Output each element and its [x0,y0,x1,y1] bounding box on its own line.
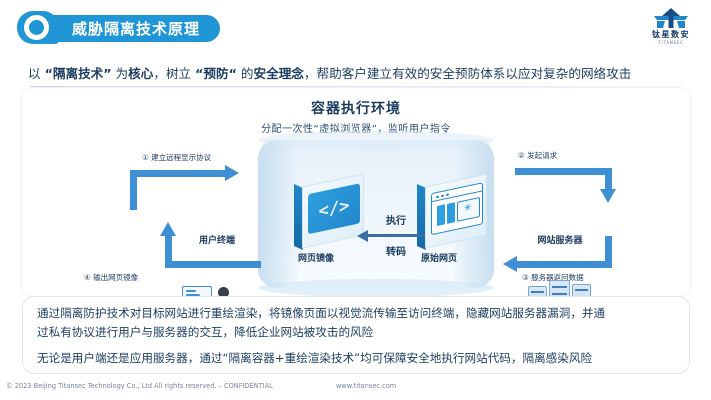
subhead-part-4: 的 [237,66,254,81]
label-website-server: 网站服务器 [515,233,605,246]
flow4-label: ④ 输出网页镜像 [84,272,138,283]
titansec-star-icon [651,7,691,29]
label-webpage-mirror: 网页镜像 [271,251,361,264]
subhead-bold-4: 安全理念 [254,66,304,81]
subhead-divider [30,86,680,87]
flow2-label: ② 发起请求 [518,150,557,161]
label-transcode: 转码 [366,243,426,258]
ring-inner-icon [24,15,49,40]
brand-name-cn: 钛星数安 [639,30,703,40]
origin-card-face: ✳ [425,173,487,248]
flow1-horizontal [130,170,228,177]
code-glyph-icon: </> [308,183,360,234]
flow4-horizontal [165,261,261,268]
footer-copyright: © 2023 Beijing Titansec Technology Co., … [6,382,273,390]
label-user-terminal: 用户终端 [172,233,262,246]
brand-logo: 钛星数安 TITANSEC [639,7,703,49]
slide-root: 威胁隔离技术原理 钛星数安 TITANSEC 以 “隔离技术” 为核心，树立 “… [0,0,711,400]
flow3-arrowhead [503,256,517,272]
flow2-arrowhead [600,189,616,203]
diagram-title: 容器执行环境 [22,98,690,118]
subhead-bold-3: “预防“ [195,66,237,81]
subhead-bold-1: “隔离技术” [45,66,112,81]
brand-name-en: TITANSEC [641,40,702,46]
browser-window-icon: ✳ [431,182,483,235]
subhead-part-1: 以 [28,66,45,81]
subhead-bold-2: 核心 [128,66,153,81]
footer-website: www.titansec.com [336,382,396,390]
flow3-horizontal [515,261,612,268]
subhead-part-5: ，帮助客户建立有效的安全预防体系以应对复杂的网络攻击 [304,66,631,81]
summary-panel: 通过隔离防护技术对目标网站进行重绘渲染，将镜像页面以视觉流传输至访问终端，隐藏网… [22,296,690,374]
flow1-label: ① 建立远程显示协议 [142,152,211,163]
summary-line-1: 通过隔离防护技术对目标网站进行重绘渲染，将镜像页面以视觉流传输至访问终端，隐藏网… [37,304,675,323]
diagram-panel: 容器执行环境 分配一次性“虚拟浏览器”，监听用户指令 </> 网页镜像 [22,88,690,296]
snowflake-icon: ✳ [464,204,472,215]
summary-line-3: 无论是用户端还是应用服务器，通过“隔离容器+重绘渲染技术”均可保障安全地执行网站… [37,349,675,368]
slide-footer: © 2023 Beijing Titansec Technology Co., … [0,382,711,396]
subheadline: 以 “隔离技术” 为核心，树立 “预防“ 的安全理念，帮助客户建立有效的安全预防… [28,64,688,84]
page-title-pill: 威胁隔离技术原理 [50,15,220,42]
flow1-arrowhead [225,165,239,181]
subhead-part-3: ，树立 [153,66,195,81]
subhead-part-2: 为 [112,66,129,81]
flow2-horizontal [515,168,612,175]
transcode-arrow-icon [367,234,425,237]
browser-block-1 [437,204,445,226]
mirror-card-face: </> [302,173,364,248]
page-title: 威胁隔离技术原理 [72,18,200,39]
flow4-vertical [165,236,172,268]
slide-header: 威胁隔离技术原理 钛星数安 TITANSEC [0,0,711,56]
browser-block-2 [447,202,455,224]
summary-line-2: 过私有协议进行用户与服务器的交互，降低企业网站被攻击的风险 [37,323,675,342]
label-exec: 执行 [366,212,426,227]
